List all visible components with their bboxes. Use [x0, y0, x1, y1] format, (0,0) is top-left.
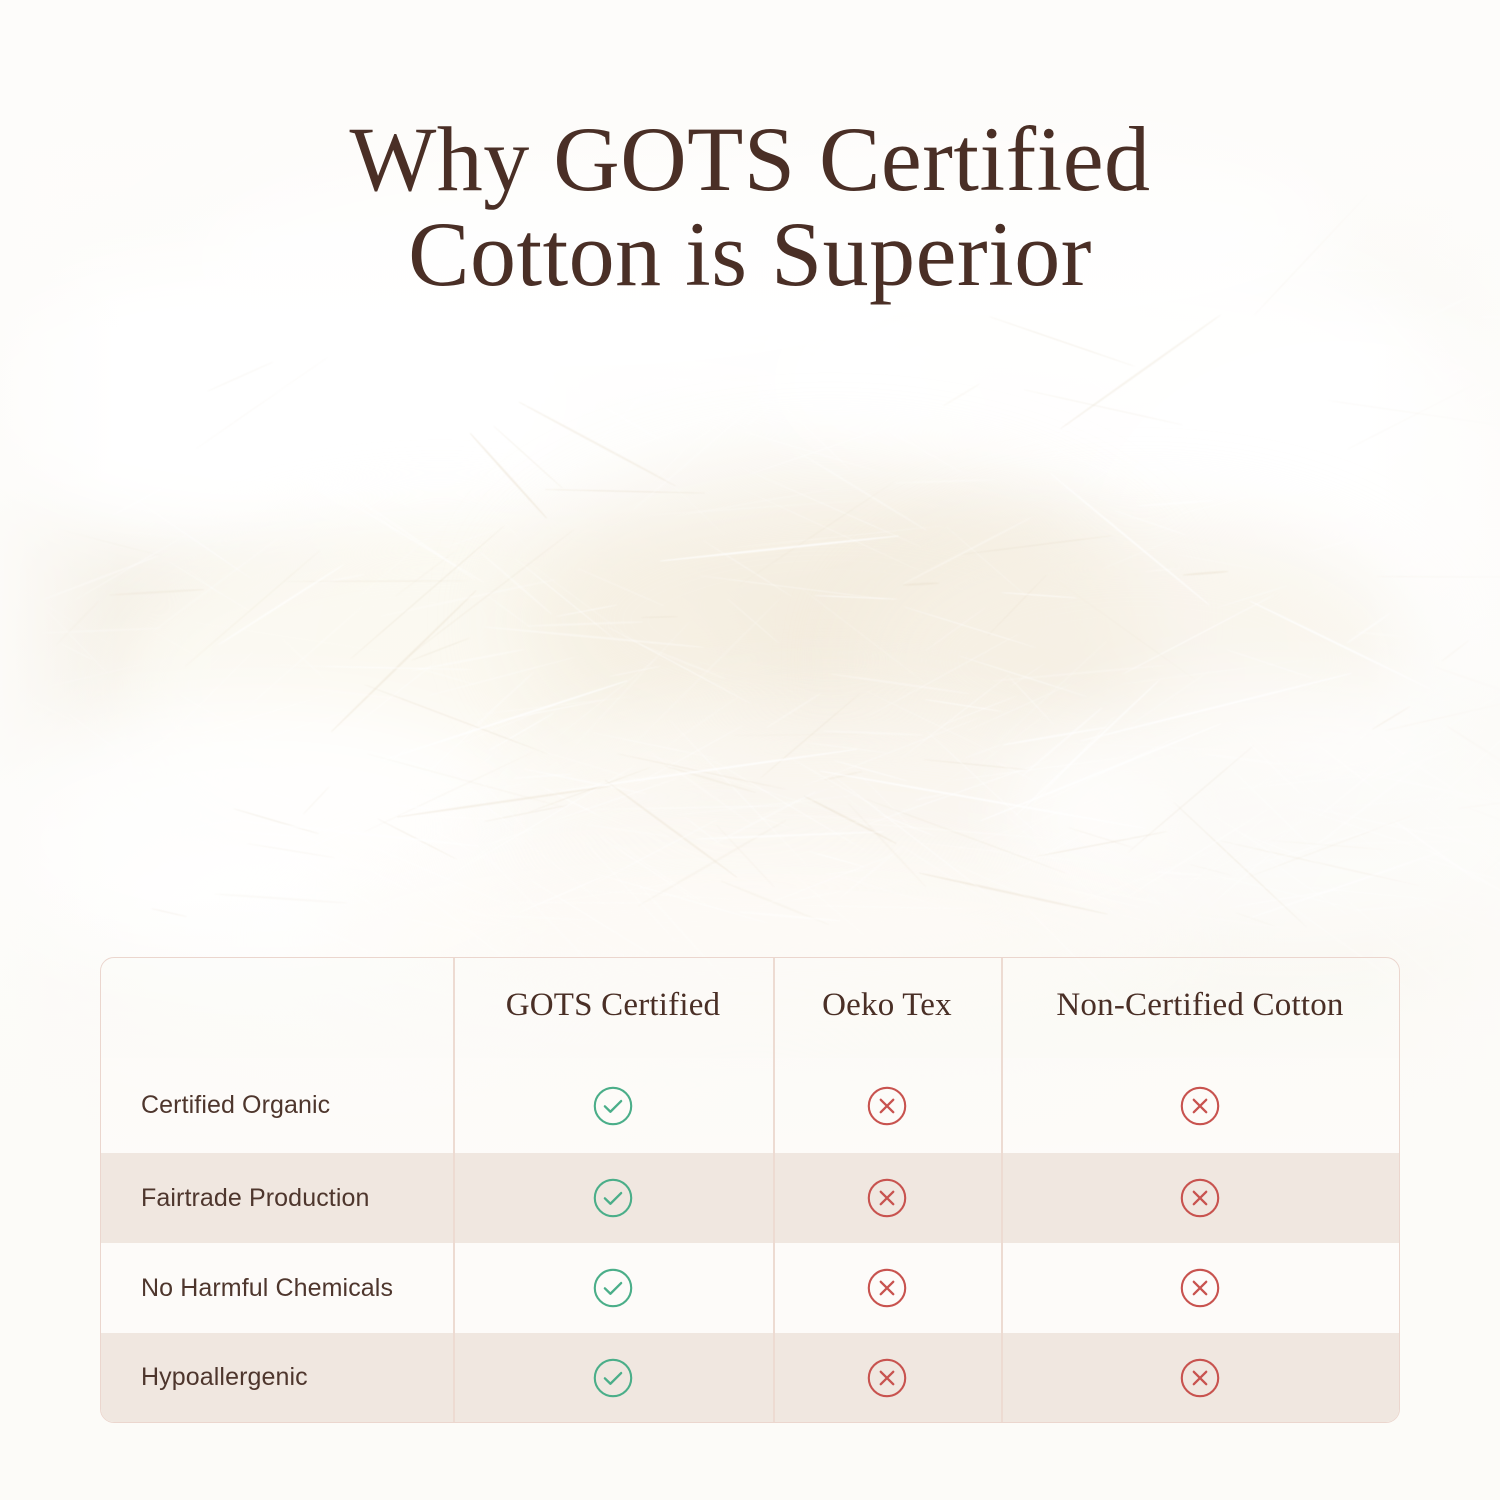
check-circle-icon	[590, 1175, 636, 1221]
table-cell-noncert	[1001, 1058, 1399, 1153]
table-row-label: No Harmful Chemicals	[101, 1243, 453, 1333]
cross-circle-icon	[864, 1175, 910, 1221]
cross-circle-icon	[864, 1083, 910, 1129]
table-header-label: Oeko Tex	[773, 987, 1001, 1030]
table-header-label: Non-Certified Cotton	[1001, 987, 1399, 1030]
cross-circle-icon	[1177, 1175, 1223, 1221]
table-cell-oeko	[773, 1058, 1001, 1153]
table-cell-gots	[453, 1333, 773, 1422]
cross-circle-icon	[864, 1265, 910, 1311]
cross-circle-icon	[1177, 1083, 1223, 1129]
table-header-gots: GOTS Certified	[453, 958, 773, 1058]
page-title: Why GOTS Certified Cotton is Superior	[0, 112, 1500, 302]
table-header-noncert: Non-Certified Cotton	[1001, 958, 1399, 1058]
table-cell-oeko	[773, 1153, 1001, 1243]
table-cell-noncert	[1001, 1243, 1399, 1333]
table-cell-noncert	[1001, 1153, 1399, 1243]
cross-circle-icon	[1177, 1355, 1223, 1401]
table-cell-gots	[453, 1153, 773, 1243]
cross-circle-icon	[864, 1355, 910, 1401]
table-header-oeko: Oeko Tex	[773, 958, 1001, 1058]
check-circle-icon	[590, 1355, 636, 1401]
page-title-line-1: Why GOTS Certified	[0, 112, 1500, 207]
table-cell-gots	[453, 1243, 773, 1333]
table-cell-oeko	[773, 1333, 1001, 1422]
table-corner-cell	[101, 958, 453, 1058]
cross-circle-icon	[1177, 1265, 1223, 1311]
check-circle-icon	[590, 1265, 636, 1311]
table-row-label: Fairtrade Production	[101, 1153, 453, 1243]
comparison-table: GOTS CertifiedOeko TexNon-Certified Cott…	[100, 957, 1400, 1423]
page-title-line-2: Cotton is Superior	[0, 207, 1500, 302]
table-header-label: GOTS Certified	[453, 987, 773, 1030]
table-row-label: Certified Organic	[101, 1058, 453, 1153]
poster-canvas: Why GOTS Certified Cotton is Superior GO…	[0, 0, 1500, 1500]
table-cell-gots	[453, 1058, 773, 1153]
check-circle-icon	[590, 1083, 636, 1129]
table-row-label: Hypoallergenic	[101, 1333, 453, 1422]
table-cell-noncert	[1001, 1333, 1399, 1422]
table-cell-oeko	[773, 1243, 1001, 1333]
